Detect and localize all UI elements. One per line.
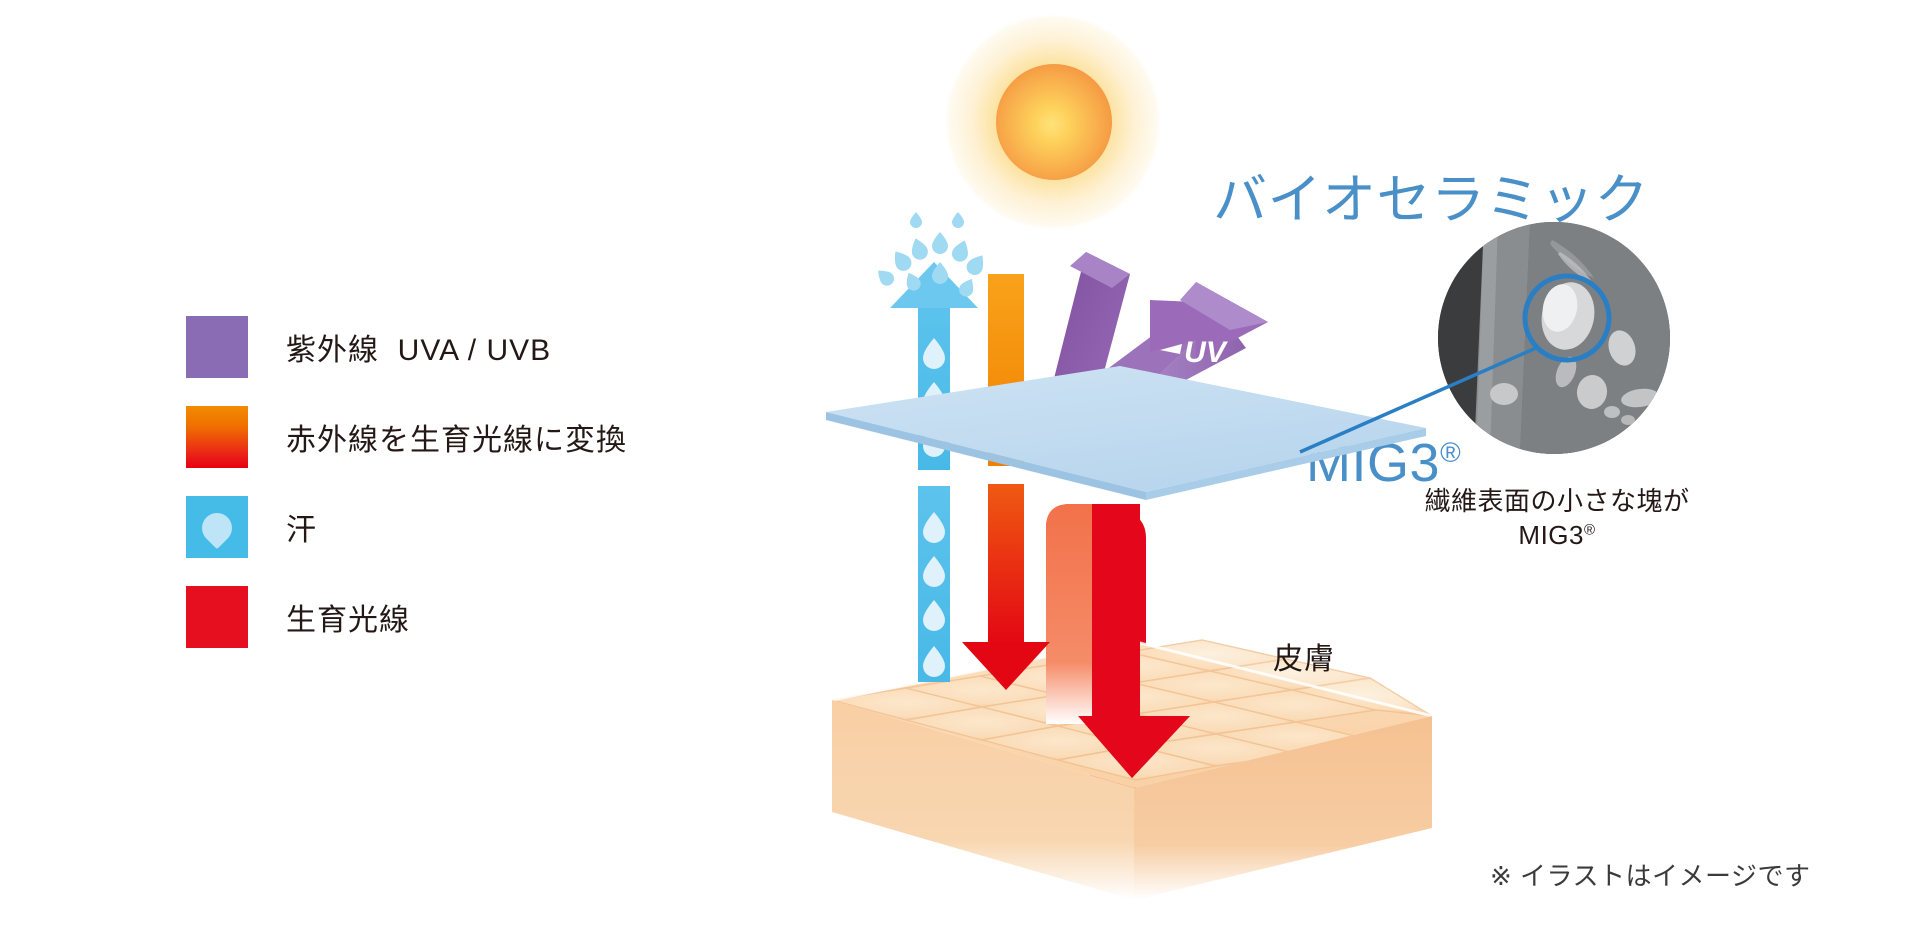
micrograph-caption: 繊維表面の小さな塊が MIG3® <box>1372 484 1742 553</box>
growth-ray-swatch <box>186 586 248 648</box>
growth-ray-arrowhead-overlay <box>1046 504 1190 778</box>
skin-label: 皮膚 <box>1273 634 1335 678</box>
sweat-arrow-overlay <box>918 486 950 682</box>
title-line-1: バイオセラミック <box>1213 168 1773 234</box>
registered-trademark-icon: ® <box>1440 437 1461 468</box>
legend: 紫外線 UVA / UVB 赤外線を生育光線に変換 汗 生育光線 <box>186 310 806 670</box>
legend-item-sweat: 汗 <box>186 490 806 564</box>
infrared-swatch <box>186 406 248 468</box>
diagram-canvas: バイオセラミック MIG3® <box>0 0 1928 940</box>
legend-label-infrared: 赤外線を生育光線に変換 <box>286 415 627 459</box>
sun-icon <box>933 14 1173 229</box>
water-drop-icon <box>196 507 238 549</box>
legend-label-growth-ray: 生育光線 <box>286 595 410 639</box>
legend-item-growth-ray: 生育光線 <box>186 580 806 654</box>
legend-label-sweat: 汗 <box>286 505 317 549</box>
caption-product-name: MIG3 <box>1518 520 1584 550</box>
legend-item-uv: 紫外線 UVA / UVB <box>186 310 806 384</box>
infrared-arrowhead-overlay <box>962 484 1050 690</box>
growth-ray-arrow <box>1044 504 1190 804</box>
page-title: バイオセラミック MIG3® <box>1213 36 1773 695</box>
caption-line-1: 繊維表面の小さな塊が <box>1372 484 1742 518</box>
caption-line-2: MIG3® <box>1372 518 1742 552</box>
uv-swatch <box>186 316 248 378</box>
footnote: ※ イラストはイメージです <box>1490 856 1810 893</box>
sweat-swatch <box>186 496 248 558</box>
legend-item-infrared: 赤外線を生育光線に変換 <box>186 400 806 474</box>
infrared-arrow-upper <box>988 274 1024 466</box>
sweat-arrow-lower <box>918 486 950 682</box>
legend-label-uv: 紫外線 UVA / UVB <box>286 325 551 369</box>
sweat-arrow-upper <box>890 262 978 470</box>
infrared-arrow-lower <box>964 484 1048 688</box>
sun-core <box>996 64 1112 180</box>
registered-trademark-icon: ® <box>1584 522 1596 539</box>
